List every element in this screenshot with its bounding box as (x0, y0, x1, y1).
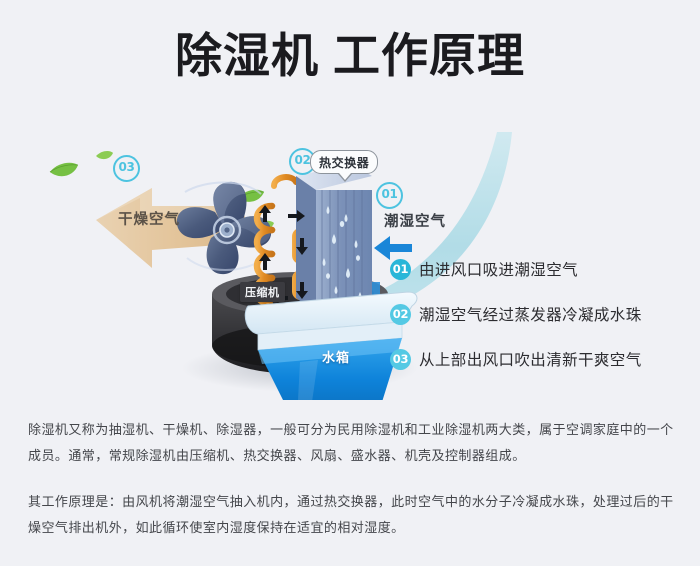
label-water-tank: 水箱 (322, 347, 350, 366)
legend-item-03: 03 从上部出风口吹出清新干爽空气 (390, 342, 690, 376)
legend-label-03: 从上部出风口吹出清新干爽空气 (419, 348, 642, 370)
body-copy: 除湿机又称为抽湿机、干燥机、除湿器，一般可分为民用除湿机和工业除湿机两大类，属于… (28, 418, 676, 542)
legend-badge-03: 03 (390, 349, 411, 370)
legend-item-01: 01 由进风口吸进潮湿空气 (390, 252, 690, 286)
label-dry-air: 干燥空气 (118, 208, 180, 229)
page-title-part1: 除湿机 (175, 29, 319, 84)
legend-label-02: 潮湿空气经过蒸发器冷凝成水珠 (419, 303, 642, 325)
legend-badge-02: 02 (390, 304, 411, 325)
label-compressor: 压缩机 (240, 282, 285, 302)
page-title-part2: 工作原理 (333, 29, 525, 84)
heat-exchanger-callout: 热交换器 (310, 150, 378, 174)
page-title: 除湿机工作原理 (0, 28, 700, 87)
paragraph-1: 除湿机又称为抽湿机、干燥机、除湿器，一般可分为民用除湿机和工业除湿机两大类，属于… (28, 418, 676, 470)
legend-item-02: 02 潮湿空气经过蒸发器冷凝成水珠 (390, 297, 690, 331)
leaf-icon (96, 151, 113, 159)
legend-label-01: 由进风口吸进潮湿空气 (419, 258, 578, 280)
step-marker-01: 01 (376, 182, 403, 209)
evaporator (296, 164, 372, 312)
step-marker-03: 03 (113, 155, 140, 182)
legend-badge-01: 01 (390, 259, 411, 280)
label-humid-air: 潮湿空气 (384, 210, 446, 231)
poster-root: 除湿机工作原理 (0, 0, 700, 566)
paragraph-2: 其工作原理是：由风机将潮湿空气抽入机内，通过热交换器，此时空气中的水分子冷凝成水… (28, 490, 676, 542)
legend-list: 01 由进风口吸进潮湿空气 02 潮湿空气经过蒸发器冷凝成水珠 03 从上部出风… (390, 252, 690, 387)
